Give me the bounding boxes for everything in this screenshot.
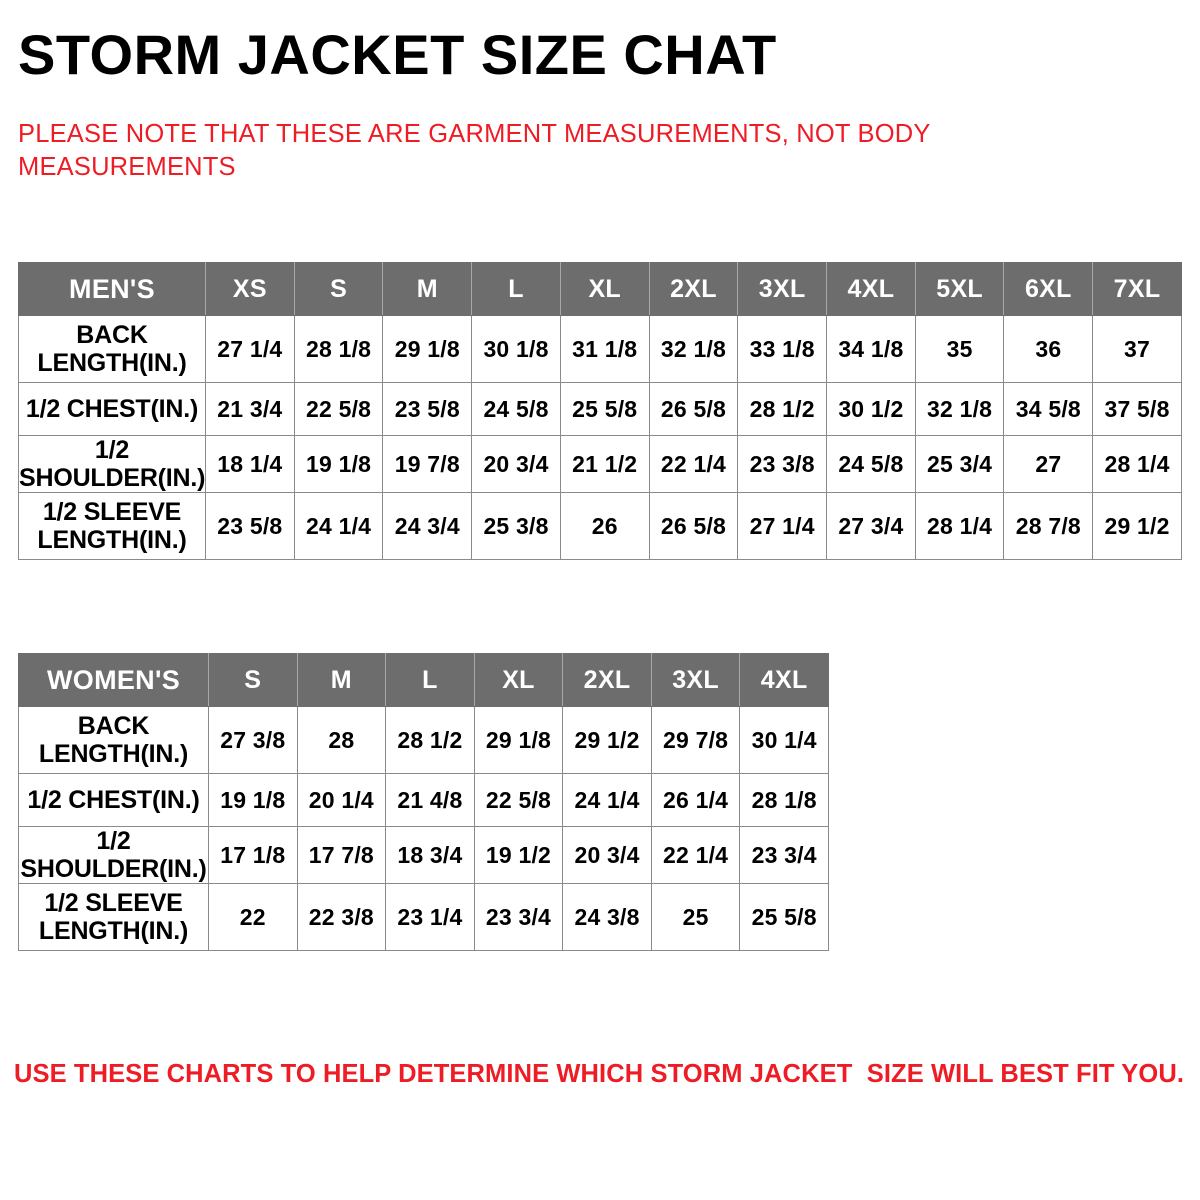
mens-cell-0-1: 28 1/8	[294, 316, 383, 383]
womens-measure-label-2: 1/2 SHOULDER(IN.)	[19, 827, 209, 884]
mens-cell-3-6: 27 1/4	[738, 493, 827, 560]
mens-cell-1-7: 30 1/2	[827, 383, 916, 436]
womens-cell-2-3: 19 1/2	[474, 827, 563, 884]
mens-cell-2-2: 19 7/8	[383, 436, 472, 493]
womens-cell-1-4: 24 1/4	[563, 774, 652, 827]
womens-cell-2-5: 22 1/4	[651, 827, 740, 884]
womens-size-header-4xl: 4XL	[740, 654, 829, 707]
mens-measure-label-3: 1/2 SLEEVE LENGTH(IN.)	[19, 493, 206, 560]
mens-cell-0-4: 31 1/8	[560, 316, 649, 383]
table-row: 1/2 CHEST(IN.)21 3/422 5/823 5/824 5/825…	[19, 383, 1182, 436]
mens-cell-1-4: 25 5/8	[560, 383, 649, 436]
mens-cell-2-5: 22 1/4	[649, 436, 738, 493]
mens-cell-0-6: 33 1/8	[738, 316, 827, 383]
mens-cell-1-6: 28 1/2	[738, 383, 827, 436]
mens-cell-1-1: 22 5/8	[294, 383, 383, 436]
mens-cell-2-9: 27	[1004, 436, 1093, 493]
page-title: STORM JACKET SIZE CHAT	[18, 26, 777, 85]
mens-cell-3-3: 25 3/8	[472, 493, 561, 560]
mens-size-header-xs: XS	[206, 263, 295, 316]
size-chart-page: STORM JACKET SIZE CHAT PLEASE NOTE THAT …	[0, 0, 1200, 1200]
womens-cell-3-3: 23 3/4	[474, 884, 563, 951]
garment-measurement-note: PLEASE NOTE THAT THESE ARE GARMENT MEASU…	[18, 118, 978, 183]
mens-table-body: BACK LENGTH(IN.)27 1/428 1/829 1/830 1/8…	[19, 316, 1182, 560]
womens-cell-1-1: 20 1/4	[297, 774, 386, 827]
womens-cell-3-0: 22	[209, 884, 298, 951]
mens-cell-2-4: 21 1/2	[560, 436, 649, 493]
womens-size-header-xl: XL	[474, 654, 563, 707]
mens-cell-2-1: 19 1/8	[294, 436, 383, 493]
mens-cell-3-5: 26 5/8	[649, 493, 738, 560]
mens-header-row: MEN'SXSSMLXL2XL3XL4XL5XL6XL7XL	[19, 263, 1182, 316]
womens-size-header-3xl: 3XL	[651, 654, 740, 707]
womens-cell-2-6: 23 3/4	[740, 827, 829, 884]
table-row: BACK LENGTH(IN.)27 1/428 1/829 1/830 1/8…	[19, 316, 1182, 383]
mens-cell-0-5: 32 1/8	[649, 316, 738, 383]
mens-cell-0-7: 34 1/8	[827, 316, 916, 383]
womens-cell-3-4: 24 3/8	[563, 884, 652, 951]
womens-cell-0-1: 28	[297, 707, 386, 774]
womens-size-table: WOMEN'SSMLXL2XL3XL4XL BACK LENGTH(IN.)27…	[18, 653, 829, 951]
womens-cell-1-2: 21 4/8	[386, 774, 475, 827]
mens-size-header-m: M	[383, 263, 472, 316]
mens-table-head: MEN'SXSSMLXL2XL3XL4XL5XL6XL7XL	[19, 263, 1182, 316]
table-row: BACK LENGTH(IN.)27 3/82828 1/229 1/829 1…	[19, 707, 829, 774]
womens-header-row: WOMEN'SSMLXL2XL3XL4XL	[19, 654, 829, 707]
table-row: 1/2 CHEST(IN.)19 1/820 1/421 4/822 5/824…	[19, 774, 829, 827]
mens-cell-2-3: 20 3/4	[472, 436, 561, 493]
mens-size-header-4xl: 4XL	[827, 263, 916, 316]
mens-cell-0-3: 30 1/8	[472, 316, 561, 383]
mens-cell-0-2: 29 1/8	[383, 316, 472, 383]
mens-cell-0-9: 36	[1004, 316, 1093, 383]
womens-size-header-2xl: 2XL	[563, 654, 652, 707]
womens-measure-label-0: BACK LENGTH(IN.)	[19, 707, 209, 774]
womens-cell-2-4: 20 3/4	[563, 827, 652, 884]
womens-table-body: BACK LENGTH(IN.)27 3/82828 1/229 1/829 1…	[19, 707, 829, 951]
womens-size-header-m: M	[297, 654, 386, 707]
womens-cell-3-1: 22 3/8	[297, 884, 386, 951]
mens-cell-3-1: 24 1/4	[294, 493, 383, 560]
mens-cell-1-2: 23 5/8	[383, 383, 472, 436]
womens-measure-label-3: 1/2 SLEEVE LENGTH(IN.)	[19, 884, 209, 951]
womens-cell-0-0: 27 3/8	[209, 707, 298, 774]
mens-cell-3-9: 28 7/8	[1004, 493, 1093, 560]
mens-size-table: MEN'SXSSMLXL2XL3XL4XL5XL6XL7XL BACK LENG…	[18, 262, 1182, 560]
mens-cell-3-4: 26	[560, 493, 649, 560]
womens-cell-0-6: 30 1/4	[740, 707, 829, 774]
womens-cell-0-5: 29 7/8	[651, 707, 740, 774]
mens-cell-3-10: 29 1/2	[1093, 493, 1182, 560]
mens-size-header-2xl: 2XL	[649, 263, 738, 316]
mens-size-header-xl: XL	[560, 263, 649, 316]
mens-cell-1-10: 37 5/8	[1093, 383, 1182, 436]
womens-cell-3-6: 25 5/8	[740, 884, 829, 951]
mens-size-header-5xl: 5XL	[915, 263, 1004, 316]
mens-size-header-7xl: 7XL	[1093, 263, 1182, 316]
mens-cell-0-10: 37	[1093, 316, 1182, 383]
mens-cell-3-2: 24 3/4	[383, 493, 472, 560]
womens-size-header-s: S	[209, 654, 298, 707]
womens-cell-3-5: 25	[651, 884, 740, 951]
womens-size-header-l: L	[386, 654, 475, 707]
womens-cell-0-4: 29 1/2	[563, 707, 652, 774]
womens-cell-0-3: 29 1/8	[474, 707, 563, 774]
mens-cell-2-8: 25 3/4	[915, 436, 1004, 493]
mens-size-header-6xl: 6XL	[1004, 263, 1093, 316]
womens-cell-3-2: 23 1/4	[386, 884, 475, 951]
womens-cell-1-0: 19 1/8	[209, 774, 298, 827]
mens-cell-0-0: 27 1/4	[206, 316, 295, 383]
womens-cell-2-2: 18 3/4	[386, 827, 475, 884]
mens-measure-label-2: 1/2 SHOULDER(IN.)	[19, 436, 206, 493]
womens-table-head: WOMEN'SSMLXL2XL3XL4XL	[19, 654, 829, 707]
womens-cell-0-2: 28 1/2	[386, 707, 475, 774]
mens-cell-3-8: 28 1/4	[915, 493, 1004, 560]
womens-cell-1-3: 22 5/8	[474, 774, 563, 827]
mens-cell-1-9: 34 5/8	[1004, 383, 1093, 436]
mens-corner-label: MEN'S	[19, 263, 206, 316]
mens-cell-0-8: 35	[915, 316, 1004, 383]
mens-cell-1-3: 24 5/8	[472, 383, 561, 436]
mens-cell-2-0: 18 1/4	[206, 436, 295, 493]
mens-measure-label-0: BACK LENGTH(IN.)	[19, 316, 206, 383]
mens-measure-label-1: 1/2 CHEST(IN.)	[19, 383, 206, 436]
table-row: 1/2 SHOULDER(IN.)18 1/419 1/819 7/820 3/…	[19, 436, 1182, 493]
womens-corner-label: WOMEN'S	[19, 654, 209, 707]
mens-cell-3-0: 23 5/8	[206, 493, 295, 560]
table-row: 1/2 SHOULDER(IN.)17 1/817 7/818 3/419 1/…	[19, 827, 829, 884]
womens-cell-2-0: 17 1/8	[209, 827, 298, 884]
womens-cell-1-6: 28 1/8	[740, 774, 829, 827]
womens-cell-1-5: 26 1/4	[651, 774, 740, 827]
mens-cell-2-7: 24 5/8	[827, 436, 916, 493]
mens-cell-1-0: 21 3/4	[206, 383, 295, 436]
mens-size-header-l: L	[472, 263, 561, 316]
mens-size-header-3xl: 3XL	[738, 263, 827, 316]
mens-cell-1-5: 26 5/8	[649, 383, 738, 436]
mens-cell-2-6: 23 3/8	[738, 436, 827, 493]
help-determine-size-note: USE THESE CHARTS TO HELP DETERMINE WHICH…	[14, 1059, 1134, 1091]
mens-size-header-s: S	[294, 263, 383, 316]
mens-cell-1-8: 32 1/8	[915, 383, 1004, 436]
table-row: 1/2 SLEEVE LENGTH(IN.)23 5/824 1/424 3/4…	[19, 493, 1182, 560]
mens-cell-2-10: 28 1/4	[1093, 436, 1182, 493]
table-row: 1/2 SLEEVE LENGTH(IN.)2222 3/823 1/423 3…	[19, 884, 829, 951]
womens-cell-2-1: 17 7/8	[297, 827, 386, 884]
womens-measure-label-1: 1/2 CHEST(IN.)	[19, 774, 209, 827]
mens-cell-3-7: 27 3/4	[827, 493, 916, 560]
